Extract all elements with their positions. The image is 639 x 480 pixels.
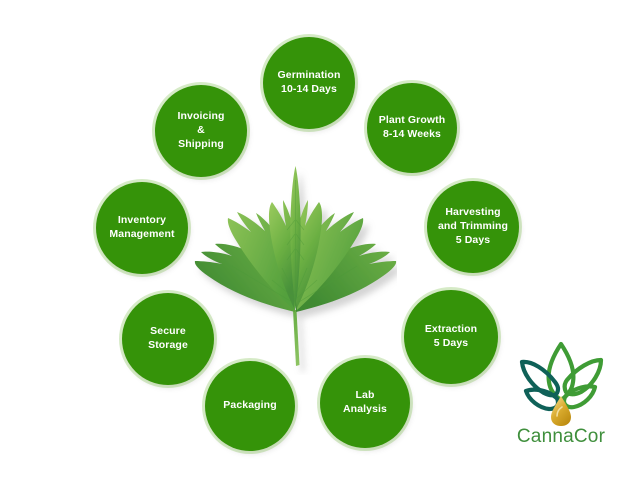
process-node-label: Lab Analysis bbox=[337, 389, 393, 417]
process-node-secure-storage[interactable]: Secure Storage bbox=[122, 293, 214, 385]
process-node-label: Secure Storage bbox=[142, 325, 194, 353]
process-node-label: Harvesting and Trimming 5 Days bbox=[432, 206, 514, 248]
process-node-label: Germination 10-14 Days bbox=[272, 69, 347, 97]
process-node-extraction[interactable]: Extraction 5 Days bbox=[404, 290, 498, 384]
cannabis-leaf-graphic bbox=[192, 160, 397, 375]
process-node-label: Inventory Management bbox=[103, 214, 180, 242]
process-node-packaging[interactable]: Packaging bbox=[205, 361, 295, 451]
process-node-inventory-management[interactable]: Inventory Management bbox=[96, 182, 188, 274]
process-node-lab-analysis[interactable]: Lab Analysis bbox=[320, 358, 410, 448]
diagram-canvas: Germination 10-14 Days Plant Growth 8-14… bbox=[0, 0, 639, 480]
process-node-label: Invoicing & Shipping bbox=[172, 110, 231, 152]
process-node-plant-growth[interactable]: Plant Growth 8-14 Weeks bbox=[367, 83, 457, 173]
brand-name: CannaCor bbox=[517, 427, 605, 446]
process-node-label: Plant Growth 8-14 Weeks bbox=[373, 114, 452, 142]
process-node-label: Packaging bbox=[217, 399, 282, 413]
cannacor-leaf-icon bbox=[513, 338, 609, 426]
brand-logo[interactable]: CannaCor bbox=[505, 338, 617, 456]
process-node-invoicing-and-shipping[interactable]: Invoicing & Shipping bbox=[155, 85, 247, 177]
process-node-label: Extraction 5 Days bbox=[419, 323, 483, 351]
process-node-harvesting-and-trimming[interactable]: Harvesting and Trimming 5 Days bbox=[427, 181, 519, 273]
process-node-germination[interactable]: Germination 10-14 Days bbox=[263, 37, 355, 129]
